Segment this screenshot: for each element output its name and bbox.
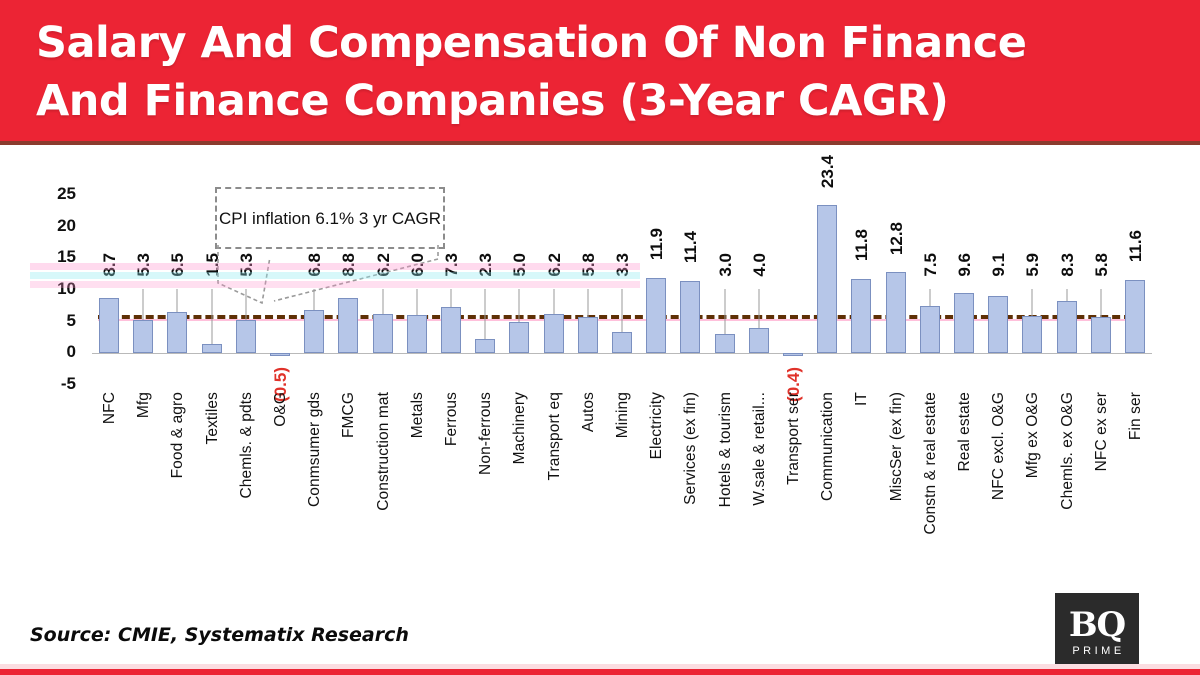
- bar-group: 11.4: [673, 195, 707, 385]
- x-axis-tick-label: Metals: [409, 392, 427, 438]
- bar: [202, 344, 222, 354]
- x-axis-tick-label: Constn & real estate: [922, 392, 940, 534]
- x-axis-tick-label: Chemls. & pdts: [238, 392, 256, 499]
- bar: [1022, 316, 1042, 353]
- bar: [133, 320, 153, 354]
- x-axis-tick-label: MiscSer (ex fin): [888, 392, 906, 501]
- page-title-line-1: Salary And Compensation Of Non Finance: [36, 14, 1200, 72]
- footer-divider: [0, 669, 1200, 675]
- header-banner: Salary And Compensation Of Non Finance A…: [0, 0, 1200, 141]
- bar: [920, 306, 940, 354]
- x-axis-tick-label: O&G: [272, 392, 290, 427]
- bar-value-label: 7.5: [921, 253, 941, 277]
- bar-group: 5.8: [1084, 195, 1118, 385]
- x-axis-labels: NFCMfgFood & agroTextilesChemls. & pdtsO…: [92, 392, 1152, 592]
- x-axis-tick-label: Chemls. ex O&G: [1059, 392, 1077, 510]
- bar: [99, 298, 119, 353]
- bar-group: 4.0: [742, 195, 776, 385]
- x-axis-tick-label: IT: [853, 392, 871, 406]
- bar-value-label: 11.9: [647, 228, 667, 260]
- bar-group: 8.7: [92, 195, 126, 385]
- value-leader-line: [587, 289, 588, 317]
- x-axis-tick-label: FMCG: [340, 392, 358, 438]
- bar: [954, 293, 974, 354]
- bar: [749, 328, 769, 353]
- bar-group: 5.3: [126, 195, 160, 385]
- value-leader-line: [621, 289, 622, 333]
- bar-group: 7.5: [913, 195, 947, 385]
- x-axis-tick-label: Electricity: [648, 392, 666, 459]
- value-leader-line: [143, 289, 144, 320]
- bar-group: 5.0: [502, 195, 536, 385]
- bar-group: (0.4): [776, 195, 810, 385]
- x-axis-tick-label: Transport ser: [785, 392, 803, 485]
- bar-group: 9.6: [947, 195, 981, 385]
- bar-group: 23.4: [810, 195, 844, 385]
- page-title-line-2: And Finance Companies (3-Year CAGR): [36, 72, 1200, 130]
- x-axis-tick-label: Conmsumer gds: [306, 392, 324, 507]
- x-axis-tick-label: Machinery: [511, 392, 529, 464]
- bar-group: 11.6: [1118, 195, 1152, 385]
- y-axis-tick: 5: [32, 311, 76, 331]
- bar: [783, 353, 803, 356]
- x-axis-tick-label: Transport eq: [546, 392, 564, 481]
- x-axis-tick-label: NFC ex ser: [1093, 392, 1111, 471]
- x-axis-tick-label: Food & agro: [169, 392, 187, 478]
- bar: [509, 322, 529, 354]
- bar: [1125, 280, 1145, 353]
- value-leader-line: [724, 289, 725, 335]
- bar: [886, 272, 906, 353]
- bar: [988, 296, 1008, 354]
- bar-value-label: 11.8: [852, 229, 872, 261]
- bar: [544, 314, 564, 353]
- bar: [715, 334, 735, 353]
- bar-value-label: 11.6: [1126, 230, 1146, 262]
- source-note: Source: CMIE, Systematix Research: [30, 624, 409, 646]
- x-axis-tick-label: W.sale & retail...: [751, 392, 769, 506]
- x-axis-tick-label: Hotels & tourism: [717, 392, 735, 507]
- x-axis-tick-label: Non-ferrous: [477, 392, 495, 475]
- bar-group: 11.9: [639, 195, 673, 385]
- x-axis-tick-label: Services (ex fin): [682, 392, 700, 505]
- bar-value-label: 11.4: [681, 231, 701, 263]
- bar-value-label: 8.3: [1058, 253, 1078, 277]
- x-axis-tick-label: Fin ser: [1127, 392, 1145, 440]
- logo-text-prime: PRIME: [1069, 645, 1124, 657]
- value-leader-line: [1032, 289, 1033, 316]
- x-axis-tick-label: NFC: [101, 392, 119, 424]
- bar-value-label: 5.9: [1023, 253, 1043, 277]
- value-leader-line: [519, 289, 520, 322]
- bar-group: 6.2: [537, 195, 571, 385]
- bar: [1057, 301, 1077, 354]
- x-axis-tick-label: Mfg: [135, 392, 153, 418]
- value-leader-line: [177, 289, 178, 312]
- logo-text-bq: BQ: [1069, 608, 1125, 642]
- value-leader-line: [758, 289, 759, 328]
- bar-value-label: 3.0: [716, 253, 736, 277]
- cpi-annotation-text: CPI inflation 6.1% 3 yr CAGR: [219, 207, 441, 230]
- y-axis-tick: 25: [32, 184, 76, 204]
- bar-group: 6.5: [160, 195, 194, 385]
- x-axis-tick-label: Real estate: [956, 392, 974, 472]
- annotation-leader-lines: [200, 245, 500, 340]
- x-axis-tick-label: Textiles: [204, 392, 222, 444]
- bar-group: 11.8: [844, 195, 878, 385]
- watermark-band: [30, 272, 640, 279]
- x-axis-tick-label: Autos: [580, 392, 598, 432]
- value-leader-line: [929, 289, 930, 306]
- value-leader-line: [553, 289, 554, 314]
- y-axis-tick: 0: [32, 342, 76, 362]
- bar: [680, 281, 700, 353]
- y-axis: 2520151050-5: [30, 195, 76, 385]
- bar: [851, 279, 871, 354]
- bar: [1091, 317, 1111, 354]
- y-axis-tick: -5: [32, 374, 76, 394]
- bar: [578, 317, 598, 354]
- x-axis-tick-label: Mfg ex O&G: [1024, 392, 1042, 478]
- watermark-band: [30, 263, 640, 270]
- cpi-annotation-box: CPI inflation 6.1% 3 yr CAGR: [215, 187, 445, 249]
- x-axis-tick-label: Ferrous: [443, 392, 461, 446]
- bar-value-label: 9.6: [955, 253, 975, 277]
- x-axis-tick-label: Mining: [614, 392, 632, 438]
- bar: [475, 339, 495, 354]
- bar-value-label: 23.4: [818, 155, 838, 188]
- value-leader-line: [1100, 289, 1101, 317]
- bar-group: 5.9: [1015, 195, 1049, 385]
- x-axis-tick-label: NFC excl. O&G: [990, 392, 1008, 500]
- bar-value-label: 4.0: [750, 253, 770, 277]
- watermark-band: [30, 281, 640, 288]
- x-axis-tick-label: Construction mat: [375, 392, 393, 511]
- bar: [817, 205, 837, 353]
- bar: [612, 332, 632, 353]
- bar-group: 8.3: [1049, 195, 1083, 385]
- bar-group: 5.8: [571, 195, 605, 385]
- chart-area: 2520151050-5 8.75.36.51.55.3(0.5)6.88.86…: [0, 145, 1200, 600]
- y-axis-tick: 20: [32, 216, 76, 236]
- bar-group: 3.0: [707, 195, 741, 385]
- x-axis-tick-label: Communication: [819, 392, 837, 501]
- bar-group: 9.1: [981, 195, 1015, 385]
- bar-group: 3.3: [605, 195, 639, 385]
- bar: [646, 278, 666, 353]
- bq-prime-logo: BQ PRIME: [1055, 593, 1139, 671]
- bar-value-label: 12.8: [887, 222, 907, 255]
- bar-value-label: 9.1: [989, 253, 1009, 277]
- bar-group: 12.8: [878, 195, 912, 385]
- bar: [270, 353, 290, 356]
- bar: [167, 312, 187, 353]
- value-leader-line: [1066, 289, 1067, 301]
- bar-value-label: 5.8: [1092, 253, 1112, 277]
